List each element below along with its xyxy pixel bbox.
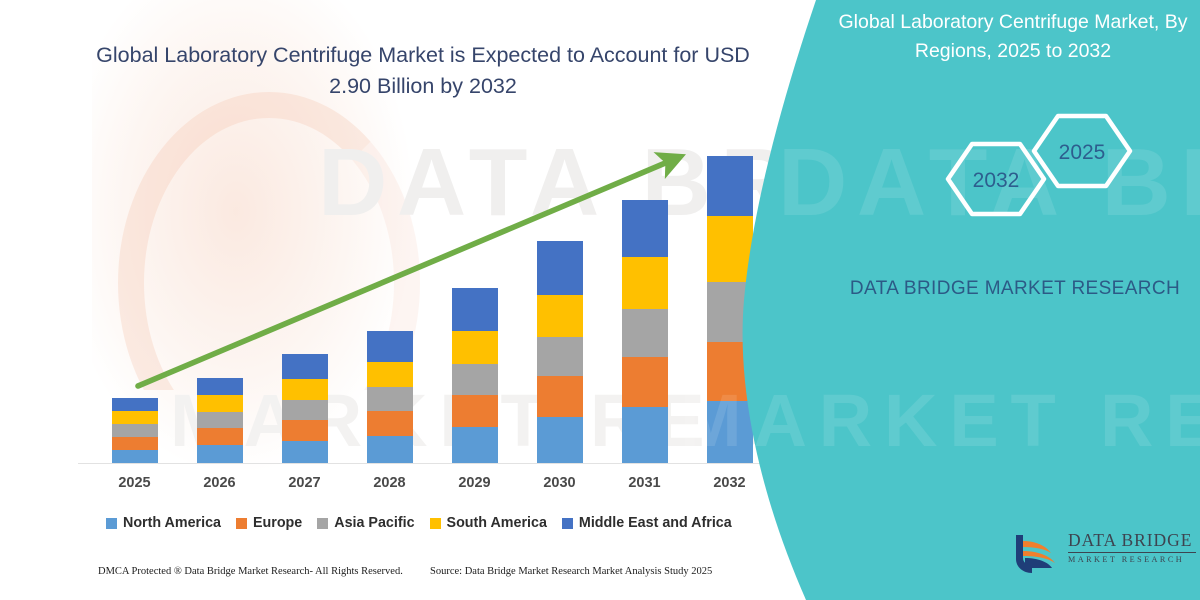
bar-column-2026 <box>181 120 259 463</box>
stacked-bar[interactable] <box>367 331 413 463</box>
hexagon-group: 2032 2025 <box>910 110 1180 240</box>
legend-item-2[interactable]: Asia Pacific <box>317 515 414 531</box>
bar-segment[interactable] <box>112 411 158 424</box>
chart-title: Global Laboratory Centrifuge Market is E… <box>78 40 768 102</box>
bar-segment[interactable] <box>282 441 328 463</box>
bar-segment[interactable] <box>112 437 158 450</box>
bar-segment[interactable] <box>622 309 668 357</box>
logo-name: DATA BRIDGE <box>1068 530 1196 551</box>
bar-group <box>92 120 772 463</box>
logo-divider <box>1068 552 1196 553</box>
x-axis-label-2026: 2026 <box>181 475 259 491</box>
bar-segment[interactable] <box>537 295 583 337</box>
x-axis-label-2030: 2030 <box>521 475 599 491</box>
stacked-bar[interactable] <box>282 354 328 463</box>
legend-label: Europe <box>253 515 302 531</box>
bar-segment[interactable] <box>537 376 583 417</box>
hexagon-label-2032: 2032 <box>973 169 1020 192</box>
stacked-bar[interactable] <box>537 241 583 463</box>
logo-mark-icon <box>1012 529 1060 577</box>
bar-segment[interactable] <box>112 398 158 411</box>
x-axis-label-2031: 2031 <box>606 475 684 491</box>
bar-segment[interactable] <box>367 331 413 362</box>
side-watermark-market-research: MARKET RESEARCH <box>680 378 1200 463</box>
bar-segment[interactable] <box>367 411 413 436</box>
legend-swatch-icon <box>562 518 573 529</box>
bar-segment[interactable] <box>622 200 668 257</box>
bar-segment[interactable] <box>537 241 583 295</box>
legend-swatch-icon <box>317 518 328 529</box>
bar-segment[interactable] <box>452 427 498 463</box>
stacked-bar[interactable] <box>112 398 158 463</box>
x-axis-label-2029: 2029 <box>436 475 514 491</box>
legend-swatch-icon <box>106 518 117 529</box>
bar-segment[interactable] <box>282 420 328 441</box>
side-panel-content: DATA BRIDGE MARKET RESEARCH Global Labor… <box>690 0 1200 600</box>
bar-segment[interactable] <box>367 387 413 411</box>
x-axis-label-2027: 2027 <box>266 475 344 491</box>
stacked-bar[interactable] <box>452 288 498 463</box>
bar-column-2031 <box>606 120 684 463</box>
bar-segment[interactable] <box>367 436 413 463</box>
bar-segment[interactable] <box>282 400 328 420</box>
legend-label: Asia Pacific <box>334 515 414 531</box>
legend-swatch-icon <box>236 518 247 529</box>
bar-segment[interactable] <box>197 412 243 428</box>
footer-source: Source: Data Bridge Market Research Mark… <box>430 566 712 577</box>
x-axis-labels: 20252026202720282029203020312032 <box>92 470 772 496</box>
bar-column-2028 <box>351 120 429 463</box>
logo-text: DATA BRIDGE MARKET RESEARCH <box>1068 530 1196 564</box>
x-axis-label-2025: 2025 <box>96 475 174 491</box>
bar-segment[interactable] <box>112 424 158 437</box>
x-axis-label-2028: 2028 <box>351 475 429 491</box>
side-panel-brand: DATA BRIDGE MARKET RESEARCH <box>840 274 1190 303</box>
bar-column-2025 <box>96 120 174 463</box>
bar-segment[interactable] <box>452 364 498 395</box>
bar-segment[interactable] <box>197 395 243 412</box>
bar-segment[interactable] <box>197 445 243 463</box>
footer-copyright: DMCA Protected ® Data Bridge Market Rese… <box>98 566 403 577</box>
side-panel: DATA BRIDGE MARKET RESEARCH Global Labor… <box>690 0 1200 600</box>
bar-segment[interactable] <box>452 395 498 427</box>
bar-segment[interactable] <box>112 450 158 463</box>
bar-segment[interactable] <box>452 288 498 331</box>
bar-segment[interactable] <box>367 362 413 387</box>
bar-segment[interactable] <box>537 417 583 463</box>
bar-column-2029 <box>436 120 514 463</box>
bar-segment[interactable] <box>537 337 583 376</box>
legend-swatch-icon <box>430 518 441 529</box>
bar-segment[interactable] <box>622 257 668 309</box>
data-bridge-logo: DATA BRIDGE MARKET RESEARCH <box>1012 525 1192 581</box>
bar-segment[interactable] <box>622 407 668 463</box>
stacked-bar[interactable] <box>197 378 243 463</box>
infographic-root: DATA BRIDGE MARKET RESEARCH Global Labor… <box>0 0 1200 600</box>
legend-item-0[interactable]: North America <box>106 515 221 531</box>
legend-label: South America <box>447 515 547 531</box>
logo-tagline: MARKET RESEARCH <box>1068 555 1196 564</box>
x-axis-line <box>78 463 772 464</box>
bar-segment[interactable] <box>622 357 668 407</box>
legend-item-3[interactable]: South America <box>430 515 547 531</box>
bar-segment[interactable] <box>197 428 243 445</box>
bar-column-2030 <box>521 120 599 463</box>
side-panel-title: Global Laboratory Centrifuge Market, By … <box>838 8 1188 67</box>
bar-segment[interactable] <box>282 354 328 379</box>
bar-segment[interactable] <box>197 378 243 395</box>
stacked-bar[interactable] <box>622 200 668 463</box>
bar-segment[interactable] <box>452 331 498 364</box>
bar-segment[interactable] <box>282 379 328 400</box>
hexagon-label-2025: 2025 <box>1059 141 1106 164</box>
legend-item-1[interactable]: Europe <box>236 515 302 531</box>
bar-column-2027 <box>266 120 344 463</box>
legend-label: North America <box>123 515 221 531</box>
